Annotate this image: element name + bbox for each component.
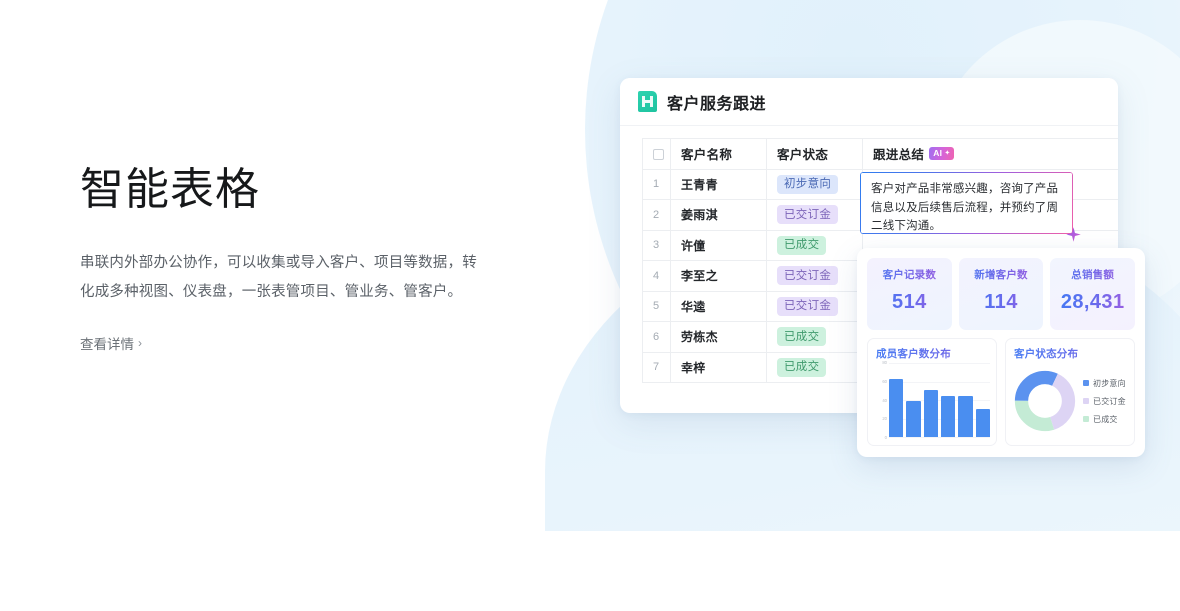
chevron-right-icon: ›: [138, 336, 142, 350]
row-index: 2: [643, 200, 671, 231]
row-customer-name[interactable]: 华逵: [671, 291, 767, 322]
hero-description: 串联内外部办公协作，可以收集或导入客户、项目等数据，转化成多种视图、仪表盘，一张…: [80, 249, 480, 307]
status-badge: 已交订金: [777, 205, 838, 224]
bar-chart-gridline: [889, 363, 990, 364]
spreadsheet-icon: [638, 91, 657, 112]
column-header-summary[interactable]: 跟进总结 AI ✦: [863, 139, 1119, 170]
row-index: 7: [643, 352, 671, 383]
row-customer-name[interactable]: 王青青: [671, 169, 767, 200]
legend-swatch: [1083, 416, 1089, 422]
bar: [924, 390, 938, 437]
bar: [976, 409, 990, 437]
bar-chart-gridline: [889, 382, 990, 383]
bar-chart-tick: 0: [885, 436, 887, 440]
stat-card-total-sales[interactable]: 总销售额 28,431: [1050, 258, 1135, 330]
stat-label-total-sales: 总销售额: [1054, 267, 1131, 282]
card-title: 客户服务跟进: [667, 90, 766, 114]
bar: [906, 401, 920, 437]
status-badge: 已交订金: [777, 297, 838, 316]
status-badge: 已交订金: [777, 266, 838, 285]
status-badge: 已成交: [777, 236, 826, 255]
bar-chart-card[interactable]: 成员客户数分布 806040200: [867, 338, 997, 446]
bar-chart-gridline: [889, 419, 990, 420]
donut-chart-card[interactable]: 客户状态分布 初步意向已交订金已成交: [1005, 338, 1135, 446]
bar-chart-plot-area: 806040200: [876, 363, 990, 438]
column-header-summary-label: 跟进总结: [873, 144, 924, 163]
row-customer-name[interactable]: 姜雨淇: [671, 200, 767, 231]
stat-value-new-customers: 114: [963, 291, 1040, 314]
bar-chart-tick: 20: [882, 417, 887, 421]
chart-row: 成员客户数分布 806040200 客户状态分布 初步意向已交订金已成交: [867, 338, 1135, 446]
row-customer-status[interactable]: 已成交: [767, 230, 863, 261]
sparkle-icon: ✦: [944, 147, 950, 160]
bar-chart-gridline: [889, 437, 990, 438]
row-index: 5: [643, 291, 671, 322]
legend-item[interactable]: 初步意向: [1083, 378, 1126, 389]
row-customer-name[interactable]: 李至之: [671, 261, 767, 292]
select-all-header[interactable]: [643, 139, 671, 170]
bar-chart-tick: 60: [882, 380, 887, 384]
row-customer-status[interactable]: 已交订金: [767, 291, 863, 322]
legend-item[interactable]: 已成交: [1083, 414, 1126, 425]
ai-badge: AI ✦: [929, 147, 954, 160]
status-badge: 初步意向: [777, 175, 838, 194]
ai-badge-label: AI: [933, 147, 942, 160]
bar-chart-bars: [889, 363, 990, 438]
stat-label-new-customers: 新增客户数: [963, 267, 1040, 282]
stat-card-records[interactable]: 客户记录数 514: [867, 258, 952, 330]
stat-value-records: 514: [871, 291, 948, 314]
stat-card-row: 客户记录数 514 新增客户数 114 总销售额 28,431: [867, 258, 1135, 330]
legend-label: 初步意向: [1093, 378, 1126, 389]
row-customer-status[interactable]: 初步意向: [767, 169, 863, 200]
row-customer-status[interactable]: 已成交: [767, 352, 863, 383]
legend-swatch: [1083, 398, 1089, 404]
row-customer-name[interactable]: 幸梓: [671, 352, 767, 383]
row-customer-status[interactable]: 已交订金: [767, 200, 863, 231]
column-header-status[interactable]: 客户状态: [767, 139, 863, 170]
bar-chart-tick: 40: [882, 398, 887, 402]
hero-copy: 智能表格 串联内外部办公协作，可以收集或导入客户、项目等数据，转化成多种视图、仪…: [80, 164, 510, 354]
ai-summary-popover[interactable]: 客户对产品非常感兴趣，咨询了产品信息以及后续售后流程，并预约了周二线下沟通。: [860, 172, 1073, 234]
select-all-checkbox[interactable]: [653, 149, 664, 160]
row-index: 1: [643, 169, 671, 200]
page-title: 智能表格: [80, 164, 510, 215]
legend-swatch: [1083, 380, 1089, 386]
bar-chart-y-axis: 806040200: [876, 363, 889, 438]
donut-chart-title: 客户状态分布: [1014, 346, 1126, 361]
stat-label-records: 客户记录数: [871, 267, 948, 282]
ai-sparkle-icon: [1065, 226, 1082, 243]
bar-chart-title: 成员客户数分布: [876, 346, 988, 361]
status-badge: 已成交: [777, 327, 826, 346]
row-index: 3: [643, 230, 671, 261]
card-header: 客户服务跟进: [620, 78, 1118, 126]
bar: [889, 379, 903, 437]
column-header-name[interactable]: 客户名称: [671, 139, 767, 170]
row-customer-status[interactable]: 已交订金: [767, 261, 863, 292]
table-header-row: 客户名称 客户状态 跟进总结 AI ✦: [643, 139, 1119, 170]
view-details-label: 查看详情: [80, 333, 134, 353]
stat-card-new-customers[interactable]: 新增客户数 114: [959, 258, 1044, 330]
dashboard-panel: 客户记录数 514 新增客户数 114 总销售额 28,431 成员客户数分布 …: [857, 248, 1145, 457]
row-customer-name[interactable]: 劳栋杰: [671, 322, 767, 353]
page-root: 智能表格 串联内外部办公协作，可以收集或导入客户、项目等数据，转化成多种视图、仪…: [0, 0, 1180, 611]
row-index: 6: [643, 322, 671, 353]
bar: [941, 396, 955, 437]
legend-label: 已交订金: [1093, 396, 1126, 407]
legend-label: 已成交: [1093, 414, 1118, 425]
row-customer-name[interactable]: 许僮: [671, 230, 767, 261]
row-customer-status[interactable]: 已成交: [767, 322, 863, 353]
ai-summary-text: 客户对产品非常感兴趣，咨询了产品信息以及后续售后流程，并预约了周二线下沟通。: [871, 183, 1058, 232]
status-badge: 已成交: [777, 358, 826, 377]
bar: [958, 396, 972, 437]
stat-value-total-sales: 28,431: [1054, 291, 1131, 314]
bar-chart-gridline: [889, 400, 990, 401]
row-index: 4: [643, 261, 671, 292]
view-details-link[interactable]: 查看详情 ›: [80, 333, 142, 353]
bar-chart-tick: 80: [882, 361, 887, 365]
legend-item[interactable]: 已交订金: [1083, 396, 1126, 407]
donut-chart-legend: 初步意向已交订金已成交: [1083, 378, 1126, 425]
donut-chart-svg: [1014, 370, 1076, 432]
donut-chart-area: 初步意向已交订金已成交: [1014, 364, 1127, 438]
